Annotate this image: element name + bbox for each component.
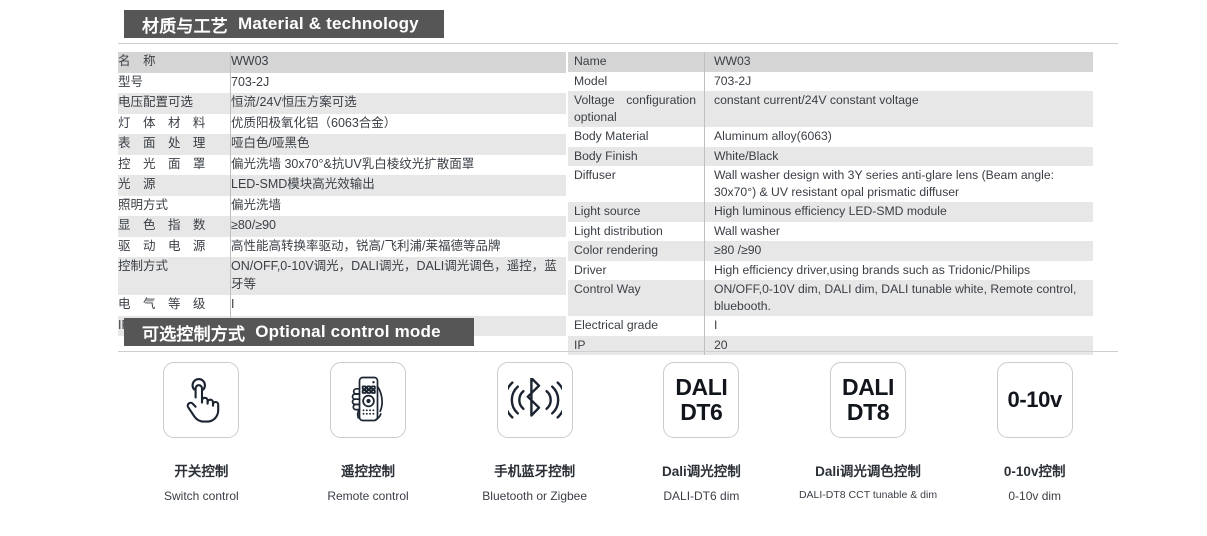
spec-table-chinese: 名 称 WW03 型号 703-2J 电压配置可选 恒流/24V恒压方案可选 灯… [118, 52, 566, 336]
section-header-material-cn: 材质与工艺 [142, 12, 228, 37]
section-header-control-mode: 可选控制方式 Optional control mode [124, 318, 474, 346]
spec-value: ≥80/≥90 [231, 216, 567, 237]
control-mode-label-en: Bluetooth or Zigbee [482, 489, 587, 503]
table-row: Diffuser Wall washer design with 3Y seri… [568, 166, 1093, 202]
control-mode-item-0-10v[interactable]: 0-10v 0-10v控制 0-10v dim [951, 362, 1118, 512]
table-row: 显 色 指 数 ≥80/≥90 [118, 216, 566, 237]
spec-label: 电压配置可选 [118, 93, 231, 114]
control-mode-item-remote[interactable]: 遥控控制 Remote control [285, 362, 452, 512]
table-row: 电压配置可选 恒流/24V恒压方案可选 [118, 93, 566, 114]
spec-label: 照明方式 [118, 196, 231, 217]
spec-value: 偏光洗墙 [231, 196, 567, 217]
section-header-material: 材质与工艺 Material & technology [124, 10, 444, 38]
spec-value: WW03 [231, 52, 567, 73]
control-mode-icon-box[interactable]: 0-10v [997, 362, 1073, 438]
spec-label: 型号 [118, 73, 231, 94]
table-row: 照明方式 偏光洗墙 [118, 196, 566, 217]
bluetooth-wireless-icon [508, 378, 562, 422]
hand-tap-icon [178, 376, 224, 424]
spec-value: LED-SMD模块高光效输出 [231, 175, 567, 196]
control-mode-item-bluetooth[interactable]: 手机蓝牙控制 Bluetooth or Zigbee [451, 362, 618, 512]
control-mode-icon-box[interactable]: DALI DT6 [663, 362, 739, 438]
spec-label: Diffuser [568, 166, 705, 202]
badge-line-1: DALI [675, 375, 727, 400]
control-mode-label-cn: 0-10v控制 [1004, 460, 1066, 480]
spec-value: High luminous efficiency LED-SMD module [705, 202, 1094, 222]
spec-value: 703-2J [231, 73, 567, 94]
spec-value: Aluminum alloy(6063) [705, 127, 1094, 147]
spec-value: High efficiency driver,using brands such… [705, 261, 1094, 281]
spec-label: 控 光 面 罩 [118, 155, 231, 176]
spec-value: 偏光洗墙 30x70°&抗UV乳白棱纹光扩散面罩 [231, 155, 567, 176]
spec-label: Color rendering [568, 241, 705, 261]
control-mode-label-cn: Dali调光控制 [662, 460, 741, 480]
table-row: Control Way ON/OFF,0-10V dim, DALI dim, … [568, 280, 1093, 316]
table-row: IP 20 [568, 336, 1093, 356]
spec-value: 哑白色/哑黑色 [231, 134, 567, 155]
spec-value: constant current/24V constant voltage [705, 91, 1094, 127]
control-mode-item-dali-dt6[interactable]: DALI DT6 Dali调光控制 DALI-DT6 dim [618, 362, 785, 512]
control-mode-label-en: Remote control [327, 489, 408, 503]
control-mode-icon-box[interactable] [163, 362, 239, 438]
spec-value: Wall washer design with 3Y series anti-g… [705, 166, 1094, 202]
table-row: Model 703-2J [568, 72, 1093, 92]
spec-label: 表 面 处 理 [118, 134, 231, 155]
spec-value: 703-2J [705, 72, 1094, 92]
dali-dt6-badge-icon: DALI DT6 [675, 375, 727, 424]
badge-line-2: DT8 [842, 400, 894, 425]
spec-label: Voltage configuration optional [568, 91, 705, 127]
spec-value: ON/OFF,0-10V dim, DALI dim, DALI tunable… [705, 280, 1094, 316]
spec-value: ≥80 /≥90 [705, 241, 1094, 261]
control-mode-icon-box[interactable] [330, 362, 406, 438]
table-row: 控制方式 ON/OFF,0-10V调光，DALI调光，DALI调光调色，遥控，蓝… [118, 257, 566, 295]
control-mode-label-cn: Dali调光调色控制 [815, 460, 921, 480]
spec-label: Light source [568, 202, 705, 222]
control-mode-label-cn: 手机蓝牙控制 [494, 460, 575, 480]
table-row: Name WW03 [568, 52, 1093, 72]
table-row: Electrical grade I [568, 316, 1093, 336]
spec-label: Name [568, 52, 705, 72]
spec-label: IP [568, 336, 705, 356]
spec-label: Body Material [568, 127, 705, 147]
spec-value: 20 [705, 336, 1094, 356]
table-row: 控 光 面 罩 偏光洗墙 30x70°&抗UV乳白棱纹光扩散面罩 [118, 155, 566, 176]
dali-dt8-badge-icon: DALI DT8 [842, 375, 894, 424]
control-mode-label-cn: 遥控控制 [341, 460, 395, 480]
spec-value: Wall washer [705, 222, 1094, 242]
control-mode-label-cn: 开关控制 [174, 460, 228, 480]
badge-line-1: DALI [842, 375, 894, 400]
table-row: Voltage configuration optional constant … [568, 91, 1093, 127]
control-mode-label-en: 0-10v dim [1008, 489, 1061, 503]
control-mode-label-en: Switch control [164, 489, 239, 503]
table-row: Body Finish White/Black [568, 147, 1093, 167]
section-header-control-mode-cn: 可选控制方式 [142, 320, 245, 345]
section-header-control-mode-en: Optional control mode [255, 322, 441, 342]
spec-label: 显 色 指 数 [118, 216, 231, 237]
spec-label: Control Way [568, 280, 705, 316]
table-row: 名 称 WW03 [118, 52, 566, 73]
section-divider-control-mode [118, 351, 1118, 352]
spec-value: 高性能高转换率驱动，锐高/飞利浦/莱福德等品牌 [231, 237, 567, 258]
control-mode-icon-box[interactable]: DALI DT8 [830, 362, 906, 438]
spec-label: 名 称 [118, 52, 231, 73]
control-mode-item-dali-dt8[interactable]: DALI DT8 Dali调光调色控制 DALI-DT8 CCT tunable… [785, 362, 952, 512]
spec-value: White/Black [705, 147, 1094, 167]
badge-line-2: DT6 [675, 400, 727, 425]
section-header-material-en: Material & technology [238, 14, 419, 34]
badge-line-1: 0-10v [1008, 388, 1062, 412]
control-mode-icon-box[interactable] [497, 362, 573, 438]
table-row: 表 面 处 理 哑白色/哑黑色 [118, 134, 566, 155]
control-mode-label-en: DALI-DT6 dim [663, 489, 739, 503]
section-divider-material [118, 43, 1118, 44]
spec-value: I [231, 295, 567, 316]
table-row: Color rendering ≥80 /≥90 [568, 241, 1093, 261]
spec-label: 驱 动 电 源 [118, 237, 231, 258]
spec-label: Body Finish [568, 147, 705, 167]
remote-control-icon [343, 374, 393, 426]
spec-value: I [705, 316, 1094, 336]
spec-label: Model [568, 72, 705, 92]
control-mode-item-switch[interactable]: 开关控制 Switch control [118, 362, 285, 512]
table-row: Light distribution Wall washer [568, 222, 1093, 242]
spec-label: Light distribution [568, 222, 705, 242]
spec-label: Electrical grade [568, 316, 705, 336]
table-row: 型号 703-2J [118, 73, 566, 94]
spec-table-english: Name WW03 Model 703-2J Voltage configura… [568, 52, 1093, 355]
table-row: 电 气 等 级 I [118, 295, 566, 316]
spec-label: 灯 体 材 料 [118, 114, 231, 135]
table-row: Body Material Aluminum alloy(6063) [568, 127, 1093, 147]
spec-label: Driver [568, 261, 705, 281]
spec-value: ON/OFF,0-10V调光，DALI调光，DALI调光调色，遥控，蓝牙等 [231, 257, 567, 295]
zero-to-ten-volt-badge-icon: 0-10v [1008, 388, 1062, 412]
spec-value: 恒流/24V恒压方案可选 [231, 93, 567, 114]
table-row: Light source High luminous efficiency LE… [568, 202, 1093, 222]
table-row: 驱 动 电 源 高性能高转换率驱动，锐高/飞利浦/莱福德等品牌 [118, 237, 566, 258]
spec-label: 电 气 等 级 [118, 295, 231, 316]
table-row: 光 源 LED-SMD模块高光效输出 [118, 175, 566, 196]
table-row: Driver High efficiency driver,using bran… [568, 261, 1093, 281]
spec-label: 光 源 [118, 175, 231, 196]
spec-value: 优质阳极氧化铝（6063合金） [231, 114, 567, 135]
table-row: 灯 体 材 料 优质阳极氧化铝（6063合金） [118, 114, 566, 135]
control-mode-label-en: DALI-DT8 CCT tunable & dim [799, 489, 937, 501]
control-mode-list: 开关控制 Switch control [118, 362, 1118, 512]
spec-value: WW03 [705, 52, 1094, 72]
spec-label: 控制方式 [118, 257, 231, 295]
